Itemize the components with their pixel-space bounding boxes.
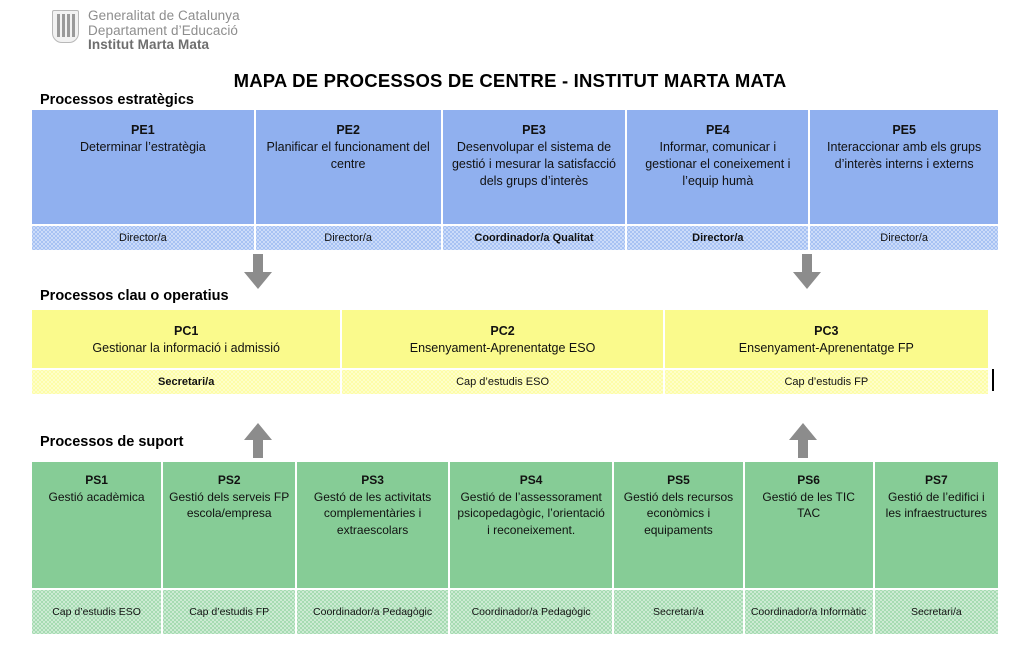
- band-heading-support: Processos de suport: [40, 434, 183, 450]
- process-code: PE2: [336, 122, 360, 139]
- process-name: Determinar l’estratègia: [80, 139, 206, 156]
- process-cell-body: PC1 Gestionar la informació i admissió: [32, 310, 340, 368]
- process-cell-ps2[interactable]: PS2 Gestió dels serveis FP escola/empres…: [163, 462, 297, 634]
- process-cell-body: PC3 Ensenyament-Aprenentatge FP: [665, 310, 988, 368]
- process-name: Gestió dels recursos econòmics i equipam…: [620, 489, 736, 539]
- process-code: PE5: [892, 122, 916, 139]
- process-owner-role: Cap d’estudis FP: [665, 368, 988, 394]
- process-cell-pe4[interactable]: PE4 Informar, comunicar i gestionar el c…: [627, 110, 810, 250]
- process-cell-body: PE2 Planificar el funcionament del centr…: [256, 110, 441, 224]
- process-owner-role: Director/a: [810, 224, 998, 250]
- process-name: Gestió dels serveis FP escola/empresa: [169, 489, 289, 522]
- process-code: PS4: [520, 472, 543, 489]
- process-name: Interaccionar amb els grups d’interès in…: [816, 139, 992, 173]
- process-code: PE1: [131, 122, 155, 139]
- process-code: PS2: [218, 472, 241, 489]
- process-cell-body: PC2 Ensenyament-Aprenentatge ESO: [342, 310, 662, 368]
- process-cell-body: PE4 Informar, comunicar i gestionar el c…: [627, 110, 808, 224]
- process-name: Ensenyament-Aprenentatge ESO: [410, 340, 596, 357]
- process-cell-body: PS4 Gestió de l’assessorament psicopedag…: [450, 462, 612, 588]
- catalonia-coat-of-arms-icon: [52, 10, 79, 43]
- process-cell-body: PE3 Desenvolupar el sistema de gestió i …: [443, 110, 626, 224]
- process-name: Gestó de les activitats complementàries …: [303, 489, 442, 539]
- process-owner-role: Coordinador/a Qualitat: [443, 224, 626, 250]
- process-owner-role: Cap d’estudis ESO: [32, 588, 161, 634]
- process-code: PS3: [361, 472, 384, 489]
- process-name: Gestió de l’assessorament psicopedagògic…: [456, 489, 606, 539]
- key-process-band: PC1 Gestionar la informació i admissió S…: [32, 310, 988, 394]
- support-process-band: PS1 Gestió acadèmica Cap d’estudis ESO P…: [32, 462, 998, 634]
- process-name: Ensenyament-Aprenentatge FP: [739, 340, 914, 357]
- process-cell-body: PE5 Interaccionar amb els grups d’interè…: [810, 110, 998, 224]
- process-code: PC3: [814, 323, 838, 340]
- process-name: Planificar el funcionament del centre: [262, 139, 435, 173]
- process-cell-pe5[interactable]: PE5 Interaccionar amb els grups d’interè…: [810, 110, 998, 250]
- process-code: PE3: [522, 122, 546, 139]
- process-name: Gestió acadèmica: [49, 489, 145, 506]
- process-name: Gestió de les TIC TAC: [751, 489, 867, 522]
- process-cell-body: PS7 Gestió de l’edifici i les infraestru…: [875, 462, 998, 588]
- arrow-down-icon: [792, 254, 822, 290]
- process-name: Gestió de l’edifici i les infraestructur…: [881, 489, 992, 522]
- process-owner-role: Coordinador/a Informàtic: [745, 588, 873, 634]
- process-owner-role: Secretari/a: [614, 588, 742, 634]
- process-code: PS5: [667, 472, 690, 489]
- process-cell-ps4[interactable]: PS4 Gestió de l’assessorament psicopedag…: [450, 462, 614, 634]
- process-owner-role: Coordinador/a Pedagògic: [450, 588, 612, 634]
- logo-line-institut: Institut Marta Mata: [88, 38, 240, 53]
- process-cell-pc1[interactable]: PC1 Gestionar la informació i admissió S…: [32, 310, 342, 394]
- process-owner-role: Director/a: [256, 224, 441, 250]
- process-cell-ps7[interactable]: PS7 Gestió de l’edifici i les infraestru…: [875, 462, 998, 634]
- institution-logo: Generalitat de Catalunya Departament d’E…: [52, 8, 240, 53]
- process-name: Desenvolupar el sistema de gestió i mesu…: [449, 139, 620, 190]
- logo-line-departament: Departament d’Educació: [88, 24, 240, 39]
- process-owner-role: Cap d’estudis ESO: [342, 368, 662, 394]
- process-cell-body: PS2 Gestió dels serveis FP escola/empres…: [163, 462, 295, 588]
- text-cursor-caret: [992, 369, 994, 391]
- strategic-process-band: PE1 Determinar l’estratègia Director/a P…: [32, 110, 998, 250]
- process-code: PC1: [174, 323, 198, 340]
- process-owner-role: Cap d’estudis FP: [163, 588, 295, 634]
- process-owner-role: Director/a: [32, 224, 254, 250]
- process-cell-body: PS5 Gestió dels recursos econòmics i equ…: [614, 462, 742, 588]
- process-cell-pe2[interactable]: PE2 Planificar el funcionament del centr…: [256, 110, 443, 250]
- process-cell-pc3[interactable]: PC3 Ensenyament-Aprenentatge FP Cap d’es…: [665, 310, 988, 394]
- process-code: PC2: [490, 323, 514, 340]
- process-code: PS7: [925, 472, 948, 489]
- process-cell-pe1[interactable]: PE1 Determinar l’estratègia Director/a: [32, 110, 256, 250]
- arrow-up-icon: [243, 422, 273, 458]
- process-owner-role: Coordinador/a Pedagògic: [297, 588, 448, 634]
- process-cell-ps6[interactable]: PS6 Gestió de les TIC TAC Coordinador/a …: [745, 462, 875, 634]
- process-cell-ps5[interactable]: PS5 Gestió dels recursos econòmics i equ…: [614, 462, 744, 634]
- arrow-down-icon: [243, 254, 273, 290]
- arrow-up-icon: [788, 422, 818, 458]
- process-cell-ps3[interactable]: PS3 Gestó de les activitats complementàr…: [297, 462, 450, 634]
- process-name: Informar, comunicar i gestionar el conei…: [633, 139, 802, 190]
- process-code: PS6: [797, 472, 820, 489]
- process-code: PE4: [706, 122, 730, 139]
- process-cell-body: PE1 Determinar l’estratègia: [32, 110, 254, 224]
- band-heading-key: Processos clau o operatius: [40, 288, 229, 304]
- process-cell-body: PS1 Gestió acadèmica: [32, 462, 161, 588]
- process-name: Gestionar la informació i admissió: [92, 340, 280, 357]
- process-cell-body: PS3 Gestó de les activitats complementàr…: [297, 462, 448, 588]
- process-cell-body: PS6 Gestió de les TIC TAC: [745, 462, 873, 588]
- band-heading-strategic: Processos estratègics: [40, 92, 194, 108]
- logo-line-generalitat: Generalitat de Catalunya: [88, 9, 240, 24]
- process-cell-ps1[interactable]: PS1 Gestió acadèmica Cap d’estudis ESO: [32, 462, 163, 634]
- page-title: MAPA DE PROCESSOS DE CENTRE - INSTITUT M…: [0, 70, 1020, 92]
- process-owner-role: Director/a: [627, 224, 808, 250]
- process-owner-role: Secretari/a: [875, 588, 998, 634]
- process-owner-role: Secretari/a: [32, 368, 340, 394]
- process-code: PS1: [85, 472, 108, 489]
- process-cell-pc2[interactable]: PC2 Ensenyament-Aprenentatge ESO Cap d’e…: [342, 310, 664, 394]
- process-cell-pe3[interactable]: PE3 Desenvolupar el sistema de gestió i …: [443, 110, 628, 250]
